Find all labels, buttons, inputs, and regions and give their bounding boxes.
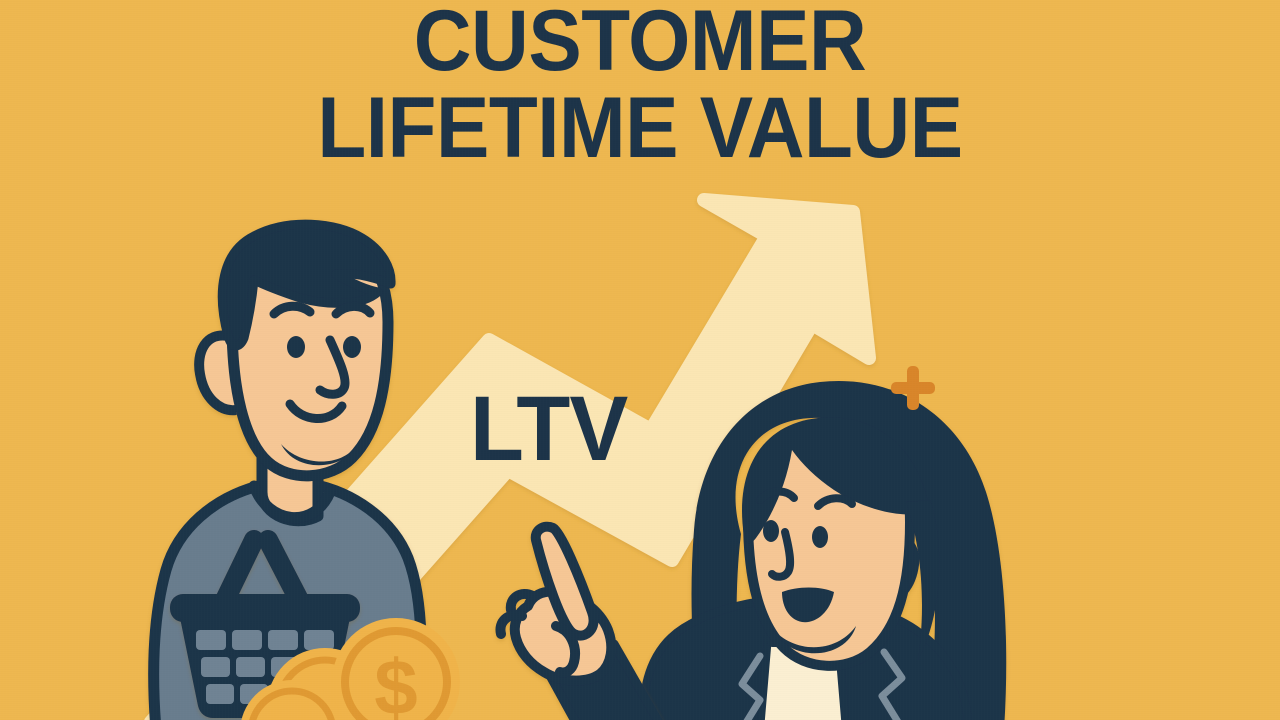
basket-cell: [196, 630, 226, 650]
basket-rim: [170, 594, 360, 622]
basket-cell: [236, 657, 265, 677]
male-eye-left: [287, 336, 305, 358]
slide-canvas: $: [0, 0, 1280, 720]
female-eye-right: [812, 526, 828, 548]
coin-dollar-glyph: $: [374, 643, 417, 720]
female-eye-left: [763, 520, 779, 542]
illustration-artwork: $: [0, 0, 1280, 720]
basket-cell: [232, 630, 262, 650]
basket-cell: [304, 630, 334, 650]
male-eye-right: [343, 336, 361, 358]
basket-cell: [206, 684, 234, 704]
basket-cell: [268, 630, 298, 650]
basket-cell: [201, 657, 230, 677]
